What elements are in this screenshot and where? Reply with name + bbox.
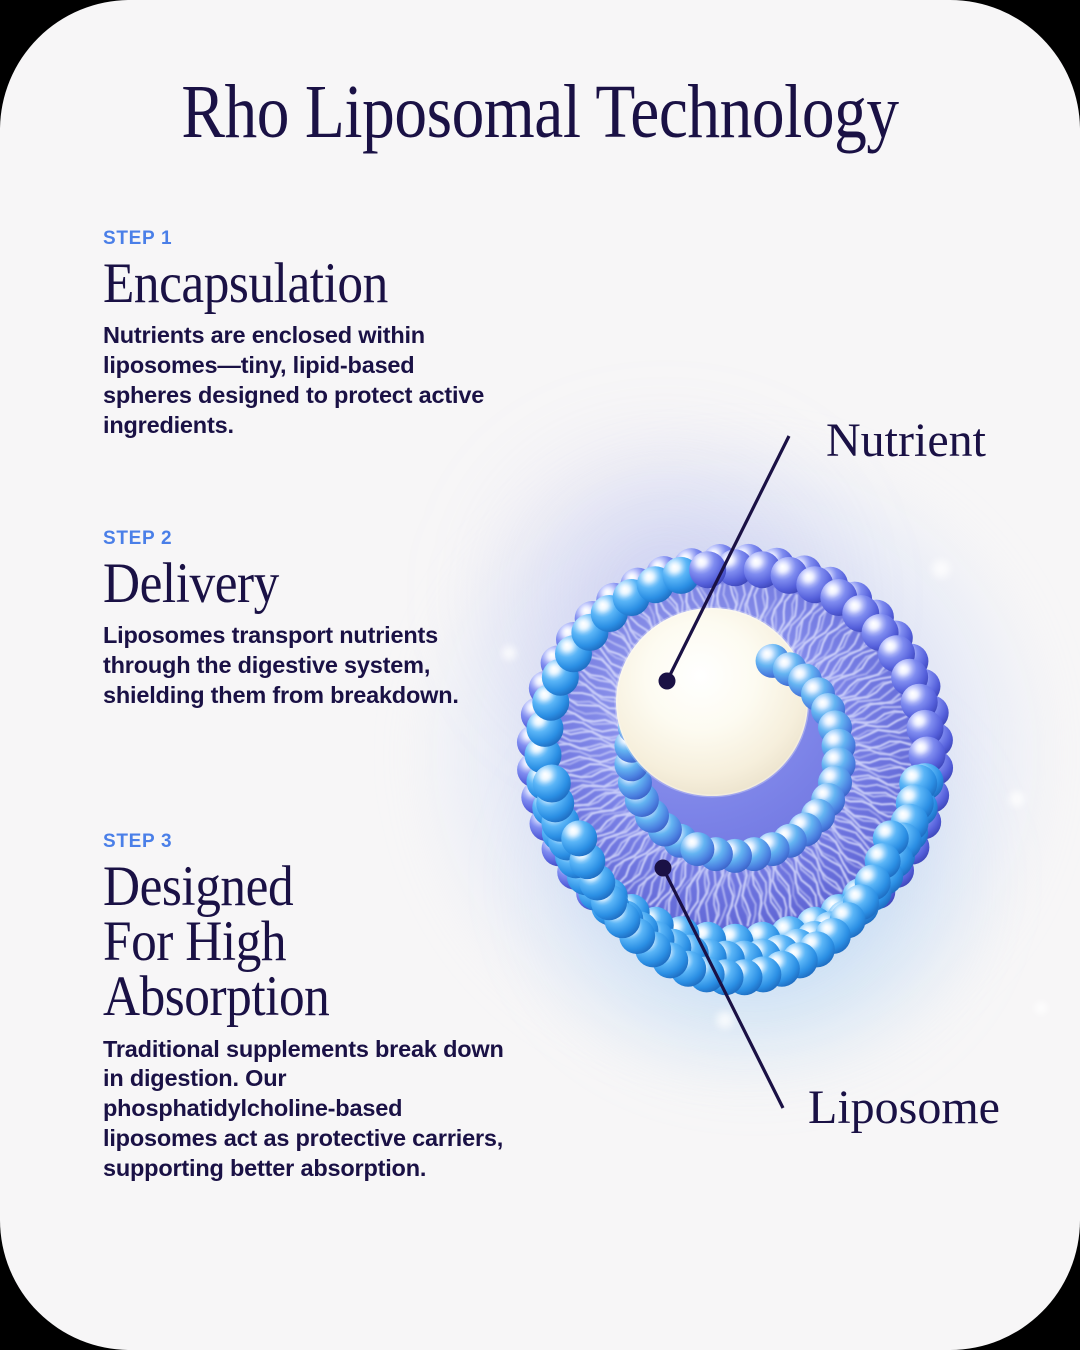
step-1-label: STEP 1 <box>103 228 503 251</box>
liposome-leader-dot <box>655 860 672 877</box>
step-3-body: Traditional supplements break down in di… <box>103 1035 508 1184</box>
step-item-2: STEP 2 Delivery Liposomes transport nutr… <box>103 528 473 711</box>
page-title: Rho Liposomal Technology <box>76 74 1005 150</box>
step-3-title: Designed For High Absorption <box>103 859 468 1025</box>
nutrient-leader-line <box>667 436 789 681</box>
step-1-title: Encapsulation <box>103 256 463 311</box>
liposome-leader-line <box>663 868 783 1108</box>
nutrient-leader-dot <box>659 673 676 690</box>
step-3-label: STEP 3 <box>103 831 508 854</box>
step-2-body: Liposomes transport nutrients through th… <box>103 621 473 711</box>
callout-label-liposome: Liposome <box>808 1084 1000 1132</box>
step-item-1: STEP 1 Encapsulation Nutrients are enclo… <box>103 228 503 440</box>
step-2-title: Delivery <box>103 556 436 611</box>
step-item-3: STEP 3 Designed For High Absorption Trad… <box>103 831 508 1184</box>
infographic-card: Rho Liposomal Technology STEP 1 Encapsul… <box>0 0 1080 1350</box>
callout-label-nutrient: Nutrient <box>826 417 986 465</box>
step-1-body: Nutrients are enclosed within liposomes—… <box>103 321 503 440</box>
step-2-label: STEP 2 <box>103 528 473 551</box>
